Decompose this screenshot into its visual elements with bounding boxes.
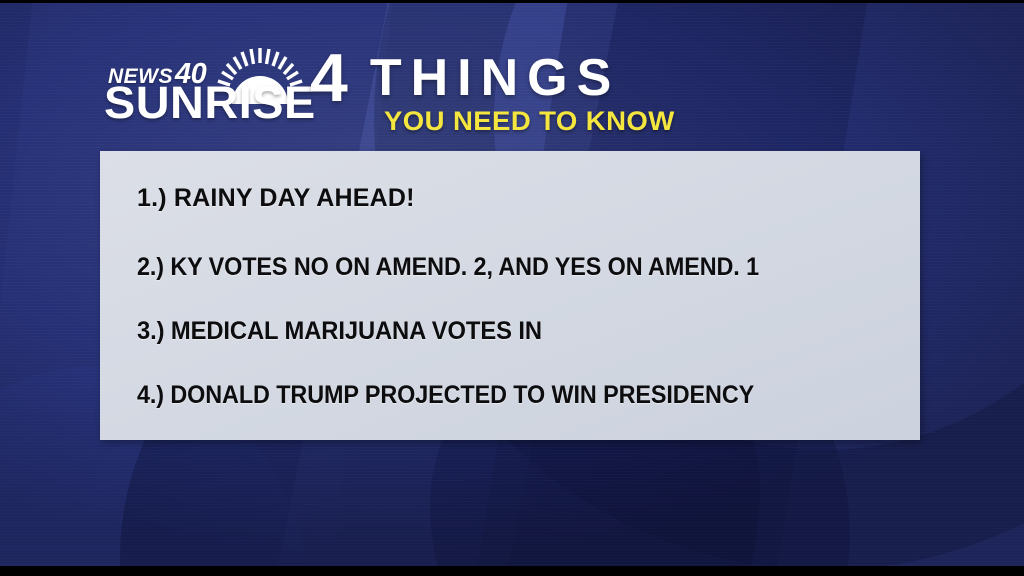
program-wordmark: SUNRISE <box>104 80 316 125</box>
list-item: 1.) RAINY DAY AHEAD! <box>137 184 415 213</box>
station-logo: NEWS 40 <box>104 52 304 144</box>
list-items: 1.) RAINY DAY AHEAD! 2.) KY VOTES NO ON … <box>137 151 902 440</box>
list-item: 4.) DONALD TRUMP PROJECTED TO WIN PRESID… <box>137 381 754 410</box>
list-item: 3.) MEDICAL MARIJUANA VOTES IN <box>137 317 542 346</box>
letterbox-bottom <box>0 566 1024 576</box>
title-count: 4 <box>310 44 348 112</box>
list-panel: 1.) RAINY DAY AHEAD! 2.) KY VOTES NO ON … <box>100 151 920 440</box>
title-main-row: 4 THINGS <box>310 44 620 112</box>
letterbox-top <box>0 0 1024 3</box>
title-block: 4 THINGS YOU NEED TO KNOW <box>310 44 620 144</box>
header: NEWS 40 <box>0 38 1024 143</box>
title-headline: THINGS <box>370 52 620 104</box>
list-item: 2.) KY VOTES NO ON AMEND. 2, AND YES ON … <box>137 253 759 282</box>
broadcast-graphic: NEWS 40 <box>0 0 1024 576</box>
title-subhead: YOU NEED TO KNOW <box>384 106 675 137</box>
